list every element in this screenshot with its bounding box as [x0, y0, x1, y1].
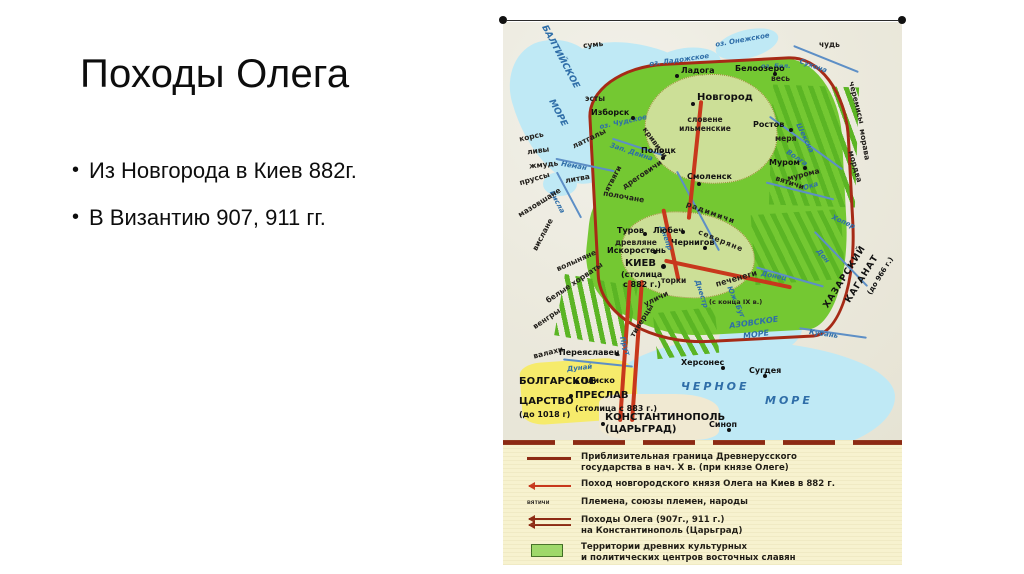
city-dot-kiev: [661, 264, 666, 269]
legend-divider: [503, 440, 902, 445]
bullet-marker-icon: •: [72, 205, 79, 230]
legend-text-line2: на Константинополь (Царьград): [581, 526, 742, 537]
legend-text-line1: Территории древних культурных: [581, 542, 796, 553]
bullet-marker-icon: •: [72, 158, 79, 183]
legend-text-line2: государства в нач. X в. (при князе Олеге…: [581, 463, 797, 474]
city-dot-sugdeya: [763, 374, 767, 378]
label-city-pereyaslavets: Переяславец: [559, 348, 620, 357]
bullet-list: • Из Новгорода в Киев 882г. • В Византию…: [72, 158, 492, 253]
label-tribe-vislane: вислане: [530, 217, 555, 252]
legend-text-line2: и политических центров восточных славян: [581, 553, 796, 564]
city-dot-preslav: [569, 394, 573, 398]
tribe-label-sample-icon: вятичи: [519, 497, 581, 511]
city-dot-beloozero: [773, 72, 777, 76]
legend-item: вятичи Племена, союзы племен, народы: [519, 497, 896, 511]
city-dot-murom: [803, 166, 807, 170]
city-dot-izborsk: [631, 116, 635, 120]
city-dot-ladoga: [675, 74, 679, 78]
legend-sample-word: вятичи: [527, 500, 550, 506]
city-dot-pereyaslavets: [615, 352, 619, 356]
selection-handle-top-left[interactable]: [499, 16, 507, 24]
legend-item: Приблизительная граница Древнерусского г…: [519, 452, 896, 475]
bullet-text: Из Новгорода в Киев 882г.: [89, 158, 357, 183]
city-dot-lyubech: [681, 230, 685, 234]
legend-text-line1: Походы Олега (907г., 911 г.): [581, 515, 742, 526]
label-tribe-valahi: валахи: [532, 344, 564, 360]
city-dot-hersones: [721, 366, 725, 370]
red-arrow-icon: [519, 479, 581, 493]
byzantine-land-shape: [599, 394, 719, 440]
city-dot-iskorosten: [653, 250, 657, 254]
city-dot-plisko: [575, 380, 579, 384]
selection-handle-top-right[interactable]: [898, 16, 906, 24]
city-dot-constantinople: [601, 422, 605, 426]
city-dot-smolensk: [697, 182, 701, 186]
green-swatch-icon: [519, 542, 581, 556]
map-canvas: БАЛТИЙСКОЕ МОРЕ оз. Ладожское оз. Онежск…: [503, 22, 902, 440]
legend-item: Походы Олега (907г., 911 г.) на Констант…: [519, 515, 896, 538]
legend-text-line1: Племена, союзы племен, народы: [581, 497, 748, 508]
label-tribe-morava: морава: [858, 128, 872, 161]
legend-item-list: Приблизительная граница Древнерусского г…: [519, 452, 896, 565]
label-tribe-chud: чудь: [819, 40, 840, 49]
legend-item: Поход новгородского князя Олега на Киев …: [519, 479, 896, 493]
city-dot-chernigov: [703, 246, 707, 250]
page-title: Походы Олега: [80, 52, 349, 97]
legend-text-line1: Поход новгородского князя Олега на Киев …: [581, 479, 835, 490]
legend-text-line1: Приблизительная граница Древнерусского: [581, 452, 797, 463]
city-dot-turov: [643, 232, 647, 236]
list-item: • В Византию 907, 911 гг.: [72, 205, 492, 230]
city-dot-polotsk: [661, 156, 665, 160]
map-legend: Приблизительная граница Древнерусского г…: [503, 440, 902, 565]
city-dot-rostov: [789, 128, 793, 132]
selection-top-rule: [507, 20, 898, 21]
historical-map-image[interactable]: БАЛТИЙСКОЕ МОРЕ оз. Ладожское оз. Онежск…: [503, 20, 902, 545]
list-item: • Из Новгорода в Киев 882г.: [72, 158, 492, 183]
label-khazar-3: (до 966 г.): [866, 256, 895, 296]
legend-item: Территории древних культурных и политиче…: [519, 542, 896, 565]
city-dot-novgorod: [691, 102, 695, 106]
city-dot-sinop: [727, 428, 731, 432]
thick-red-line-icon: [519, 452, 581, 466]
double-red-arrow-icon: [519, 515, 581, 529]
bullet-text: В Византию 907, 911 гг.: [89, 205, 326, 230]
